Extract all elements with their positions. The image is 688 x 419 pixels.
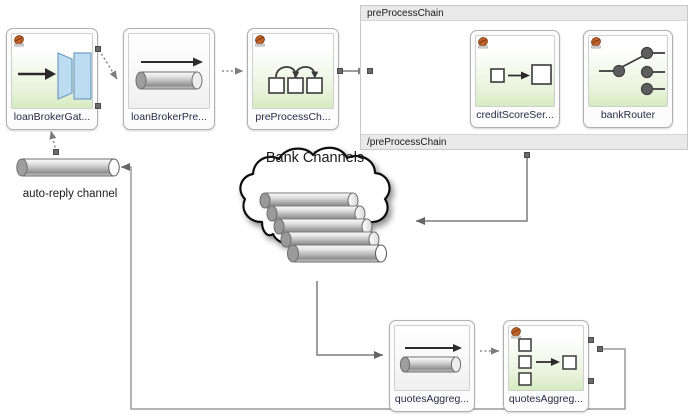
pipe-label: auto-reply channel <box>16 188 124 200</box>
coffee-bean-badge <box>12 34 26 48</box>
coffee-bean-badge <box>589 36 603 50</box>
bank-channels-label: Bank Channels <box>230 150 400 166</box>
anchor-handle[interactable] <box>597 346 603 352</box>
coffee-bean-badge <box>476 36 490 50</box>
node-loan-broker-gateway[interactable]: loanBrokerGat... <box>6 28 98 130</box>
edge-gateway-to-pre <box>99 50 117 79</box>
group-close-tag: /preProcessChain <box>361 134 687 149</box>
node-credit-score-service[interactable]: creditScoreSer... <box>470 30 560 128</box>
group-open-tag: preProcessChain <box>361 6 687 21</box>
anchor-handle[interactable] <box>588 378 594 384</box>
anchor-handle[interactable] <box>95 103 101 109</box>
edge-cloud-to-quotes-channel <box>317 281 383 355</box>
anchor-handle[interactable] <box>367 68 373 74</box>
gateway-icon <box>11 33 93 109</box>
service-transform-icon <box>475 35 555 107</box>
diagram-canvas: Bank Channels preProcessChain /preProces… <box>0 0 688 419</box>
anchor-handle[interactable] <box>53 149 59 155</box>
channel-pipe-icon <box>394 325 470 391</box>
node-label: bankRouter <box>601 109 655 123</box>
channel-pipe-icon <box>16 155 122 181</box>
node-preprocess-chain[interactable]: preProcessCh... <box>247 28 339 130</box>
chain-icon <box>252 33 334 109</box>
node-label: quotesAggreg... <box>509 393 583 407</box>
node-quotes-aggregator[interactable]: quotesAggreg... <box>503 320 589 412</box>
anchor-handle[interactable] <box>95 46 101 52</box>
edge-group-to-cloud <box>416 155 527 221</box>
node-label: creditScoreSer... <box>476 109 554 123</box>
pipe-auto-reply-channel[interactable]: auto-reply channel <box>16 155 124 200</box>
node-label: quotesAggreg... <box>395 393 469 407</box>
router-icon <box>588 35 668 107</box>
channel-pipe-icon <box>128 33 210 109</box>
node-label: preProcessCh... <box>255 111 330 125</box>
node-bank-router[interactable]: bankRouter <box>583 30 673 128</box>
node-quotes-aggreg-channel[interactable]: quotesAggreg... <box>389 320 475 412</box>
anchor-handle[interactable] <box>337 68 343 74</box>
node-label: loanBrokerPre... <box>131 111 207 125</box>
coffee-bean-badge <box>509 326 523 340</box>
anchor-handle[interactable] <box>524 152 530 158</box>
aggregator-icon <box>508 325 584 391</box>
node-label: loanBrokerGat... <box>14 111 90 125</box>
anchor-handle[interactable] <box>588 337 594 343</box>
coffee-bean-badge <box>253 34 267 48</box>
node-loan-broker-pre[interactable]: loanBrokerPre... <box>123 28 215 130</box>
